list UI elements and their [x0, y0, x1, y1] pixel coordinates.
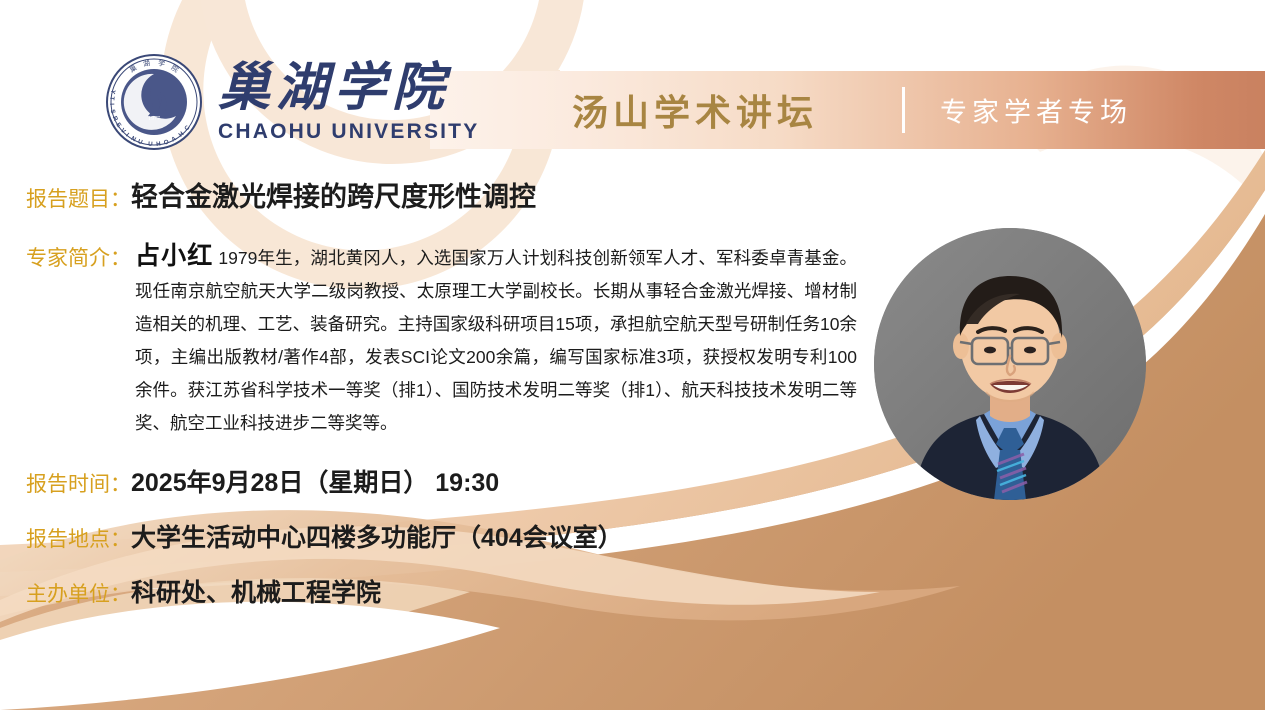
report-time-value: 2025年9月28日（星期日） 19:30	[131, 463, 499, 499]
report-host-label: 主办单位：	[26, 578, 131, 608]
speaker-portrait-image	[874, 228, 1146, 500]
banner-title: 汤山学术讲坛	[572, 84, 818, 136]
decor-wave-bottom-left-mask	[0, 602, 500, 710]
report-place-label: 报告地点：	[26, 523, 131, 553]
chaohu-university-seal-icon: 1977 C H A O H U U N I V E R S I T	[104, 52, 204, 152]
university-logo: 1977 C H A O H U U N I V E R S I T	[104, 52, 479, 152]
report-title-value: 轻合金激光焊接的跨尺度形性调控	[131, 175, 536, 214]
report-time-row: 报告时间： 2025年9月28日（星期日） 19:30	[26, 463, 499, 499]
banner-subtitle: 专家学者专场	[940, 91, 1132, 130]
speaker-bio-row: 专家简介： 占小红 1979年生，湖北黄冈人，入选国家万人计划科技创新领军人才、…	[26, 240, 876, 440]
report-time-label: 报告时间：	[26, 468, 131, 498]
report-title-label: 报告题目：	[26, 183, 131, 213]
event-banner: 汤山学术讲坛 专家学者专场	[430, 71, 1265, 149]
logo-name-cn: 巢湖学院	[218, 63, 479, 115]
svg-text:1977: 1977	[148, 116, 160, 122]
speaker-bio-label: 专家简介：	[26, 242, 131, 272]
banner-divider	[902, 87, 905, 133]
report-place-row: 报告地点： 大学生活动中心四楼多功能厅（404会议室）	[26, 518, 623, 554]
logo-name-en: CHAOHU UNIVERSITY	[218, 121, 479, 142]
poster-header: 汤山学术讲坛 专家学者专场 1977 C H A O H	[0, 0, 1265, 160]
report-host-value: 科研处、机械工程学院	[131, 573, 381, 609]
report-place-value: 大学生活动中心四楼多功能厅（404会议室）	[131, 518, 623, 554]
speaker-portrait	[874, 228, 1146, 500]
speaker-bio-text: 1979年生，湖北黄冈人，入选国家万人计划科技创新领军人才、军科委卓青基金。现任…	[135, 248, 857, 433]
poster-root: 汤山学术讲坛 专家学者专场 1977 C H A O H	[0, 0, 1265, 710]
report-host-row: 主办单位： 科研处、机械工程学院	[26, 573, 381, 609]
speaker-name: 占小红	[135, 242, 213, 270]
report-title-row: 报告题目： 轻合金激光焊接的跨尺度形性调控	[26, 175, 536, 214]
speaker-bio-body: 占小红 1979年生，湖北黄冈人，入选国家万人计划科技创新领军人才、军科委卓青基…	[135, 240, 857, 440]
